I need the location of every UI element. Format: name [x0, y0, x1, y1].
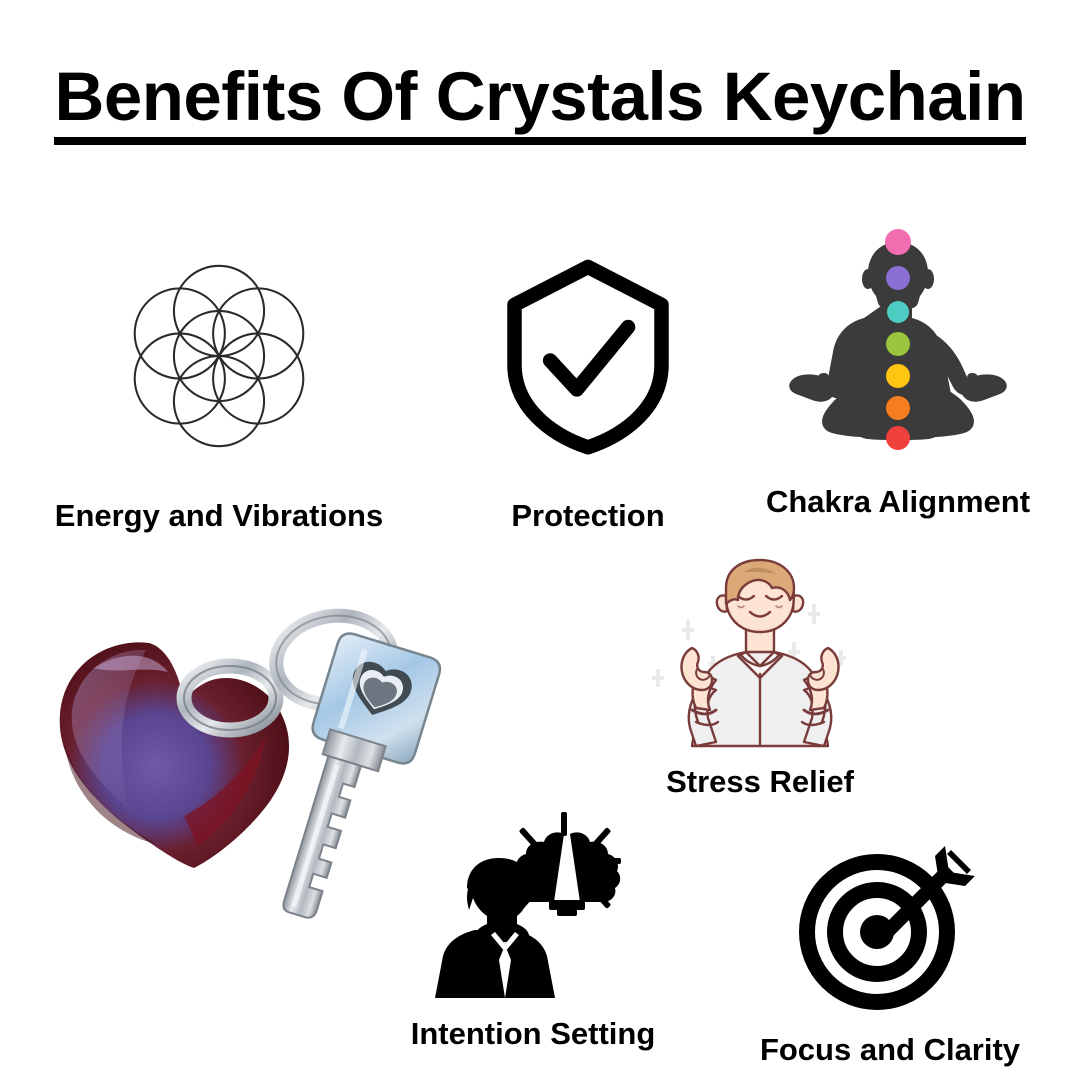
shield-check-art [452, 258, 724, 454]
target-arrow-art [752, 836, 1028, 1016]
benefit-item-protection: Protection [452, 258, 724, 531]
chakra-dot-third-eye [886, 266, 910, 290]
shield-check-icon [452, 258, 724, 454]
seed-of-life-art [38, 258, 400, 454]
person-brain-art [390, 808, 676, 1008]
meditating-figure-art [752, 228, 1044, 454]
benefit-label-protection: Protection [452, 500, 724, 531]
page-title: Benefits Of Crystals Keychain [0, 62, 1080, 145]
chakra-dot-solar-plexus [886, 364, 910, 388]
chakra-dot-crown [885, 229, 911, 255]
benefit-item-energy-and-vibrations: Energy and Vibrations [38, 258, 400, 531]
person-with-glowing-brain-icon [390, 808, 676, 1008]
meditating-figure-chakras-icon [752, 228, 1044, 454]
benefit-item-stress-relief: Stress Relief [620, 552, 900, 797]
benefit-item-intention-setting: Intention Setting [390, 808, 676, 1049]
benefit-label-intention-setting: Intention Setting [390, 1018, 676, 1049]
chakra-dot-throat [887, 301, 909, 323]
benefit-label-focus-and-clarity: Focus and Clarity [752, 1034, 1028, 1065]
page-title-text: Benefits Of Crystals Keychain [54, 62, 1025, 145]
benefit-item-chakra-alignment: Chakra Alignment [752, 228, 1044, 517]
benefit-label-energy-and-vibrations: Energy and Vibrations [38, 500, 400, 531]
calm-man-art [620, 552, 900, 752]
calm-man-meditating-illustration [620, 552, 900, 752]
benefit-label-stress-relief: Stress Relief [620, 766, 900, 797]
target-arrow-icon [752, 836, 1028, 1016]
chakra-dot-heart [886, 332, 910, 356]
seed-of-life-icon [38, 258, 400, 454]
chakra-dot-root [886, 426, 910, 450]
benefit-item-focus-and-clarity: Focus and Clarity [752, 836, 1028, 1065]
benefit-label-chakra-alignment: Chakra Alignment [752, 486, 1044, 517]
chakra-dot-sacral [886, 396, 910, 420]
infographic-canvas: Benefits Of Crystals Keychain Energy and… [0, 0, 1080, 1080]
